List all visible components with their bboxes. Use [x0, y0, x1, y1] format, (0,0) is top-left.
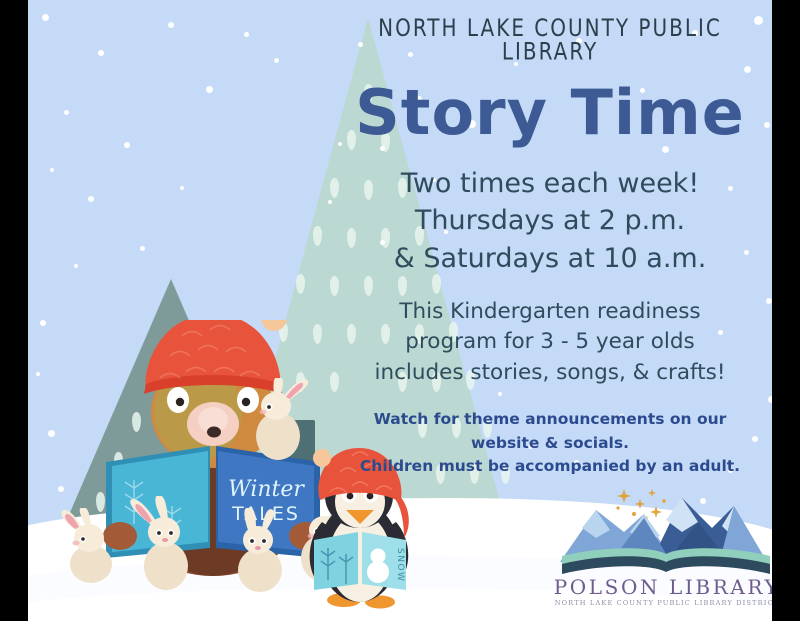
- note-line: Children must be accompanied by an adult…: [328, 455, 772, 478]
- schedule-block: Two times each week! Thursdays at 2 p.m.…: [328, 165, 772, 277]
- penguin-book-title: SNOW: [395, 548, 405, 582]
- logo-name: POLSON LIBRARY: [552, 577, 772, 597]
- mountain-book-icon: [552, 484, 772, 576]
- notes-block: Watch for theme announcements on our web…: [328, 408, 772, 478]
- logo-subtitle: NORTH LAKE COUNTY PUBLIC LIBRARY DISTRIC…: [552, 600, 772, 607]
- bunny-center-left: [124, 496, 204, 592]
- note-line: website & socials.: [328, 432, 772, 455]
- description-line: program for 3 - 5 year olds: [328, 327, 772, 358]
- story-time-poster: Winter TALES: [28, 0, 772, 621]
- logo-artwork: [552, 484, 772, 576]
- schedule-line: & Saturdays at 10 a.m.: [328, 240, 772, 277]
- page-title: Story Time: [328, 80, 772, 145]
- letterbox-right: [772, 0, 800, 621]
- poster-text-column: NORTH LAKE COUNTY PUBLIC LIBRARY Story T…: [328, 0, 772, 478]
- description-block: This Kindergarten readiness program for …: [328, 297, 772, 389]
- polson-library-logo: POLSON LIBRARY NORTH LAKE COUNTY PUBLIC …: [552, 484, 772, 607]
- sparkle-group: [616, 489, 665, 520]
- bunny-far-left: [58, 508, 124, 584]
- description-line: This Kindergarten readiness: [328, 297, 772, 328]
- description-line: includes stories, songs, & crafts!: [328, 358, 772, 389]
- letterbox-left: [0, 0, 28, 621]
- note-line: Watch for theme announcements on our: [328, 408, 772, 431]
- organization-name: NORTH LAKE COUNTY PUBLIC LIBRARY: [328, 16, 772, 63]
- schedule-line: Two times each week!: [328, 165, 772, 202]
- schedule-line: Thursdays at 2 p.m.: [328, 202, 772, 239]
- screenshot-canvas: Winter TALES: [0, 0, 800, 621]
